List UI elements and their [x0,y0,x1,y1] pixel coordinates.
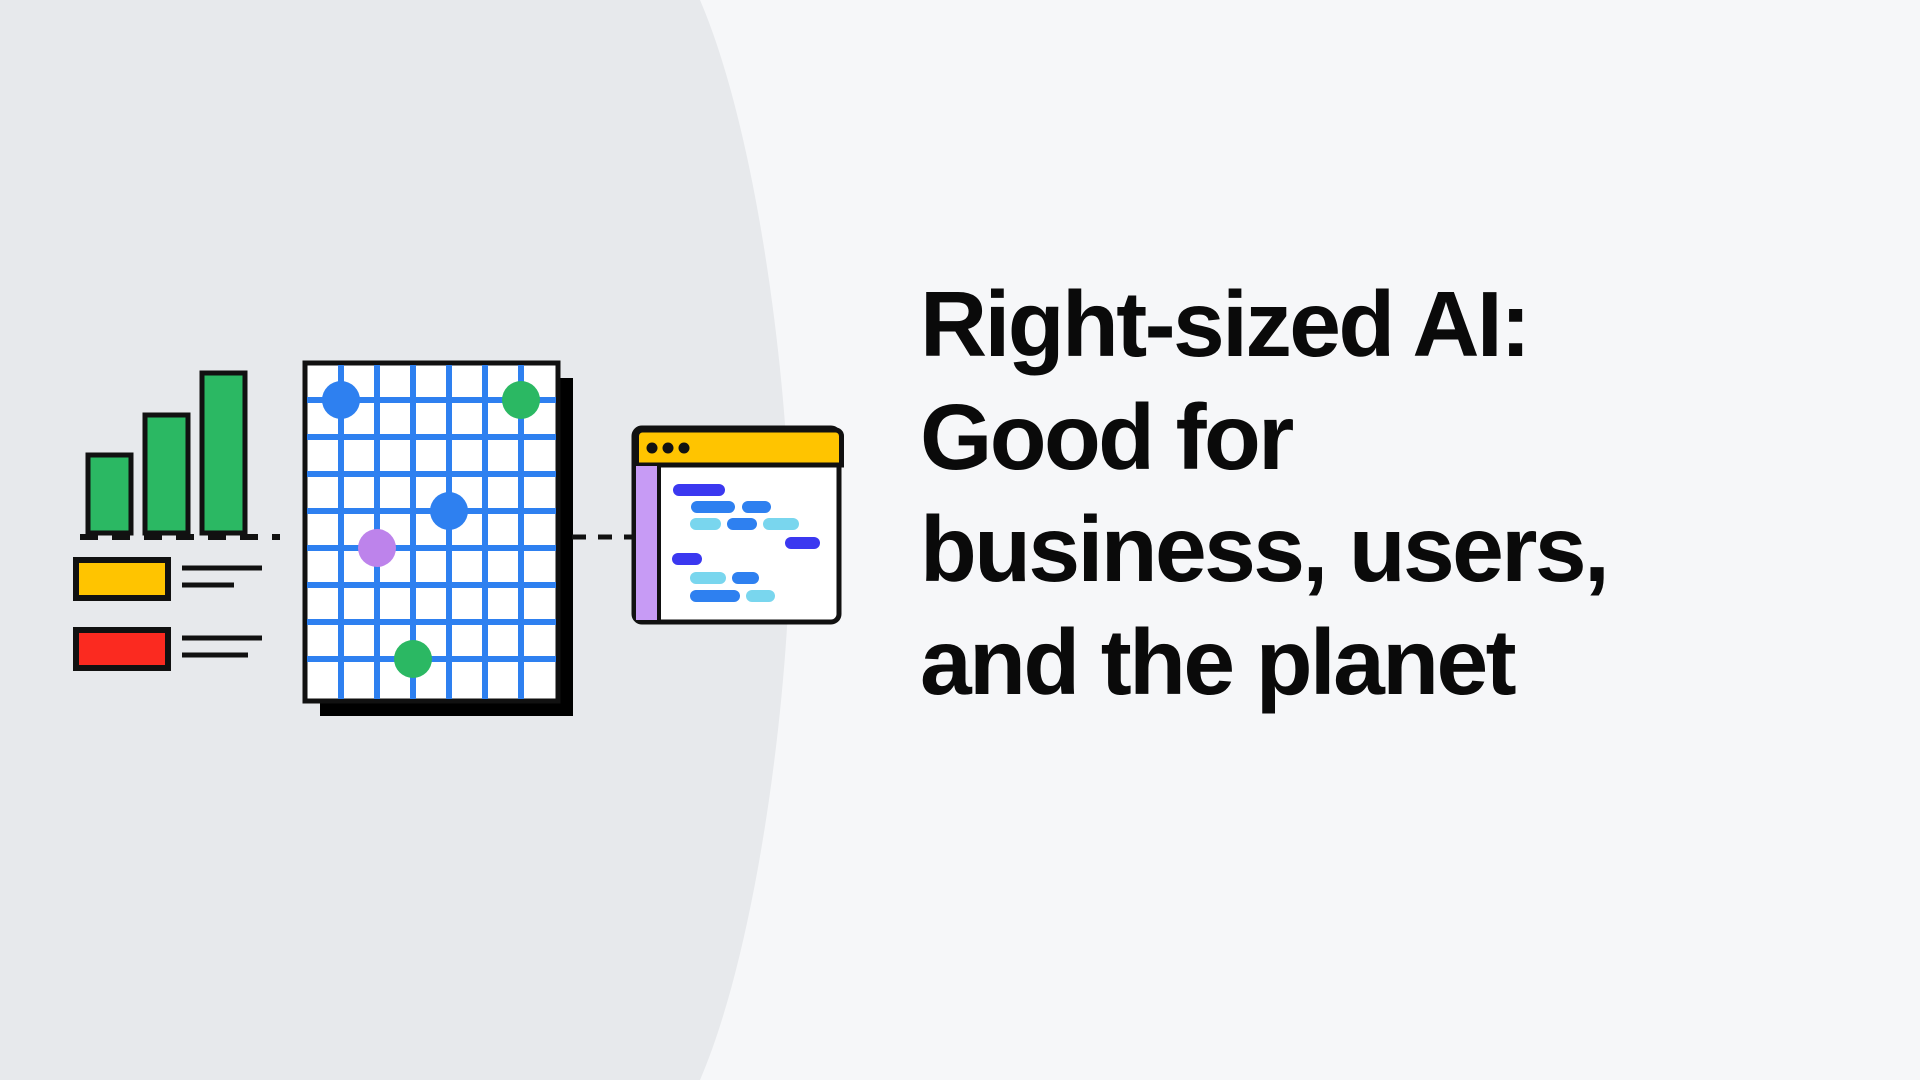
code-token [727,518,757,530]
window-dot-minimize-icon[interactable] [663,443,674,454]
window-sidebar[interactable] [636,466,658,620]
code-token [673,484,725,496]
code-token [785,537,820,549]
code-token [691,501,735,513]
code-token [690,572,726,584]
headline-line-3: business, users, [920,493,1800,606]
code-token [732,572,759,584]
headline-line-2: Good for [920,381,1800,494]
code-token [672,553,702,565]
legend-row-red [76,630,262,668]
window-dot-maximize-icon[interactable] [679,443,690,454]
legend-swatch-red [76,630,168,668]
code-token [742,501,771,513]
legend-row-yellow [76,560,262,598]
code-token [690,590,740,602]
point-purple-1 [358,529,396,567]
headline-line-1: Right-sized AI: [920,268,1800,381]
headline-block: Right-sized AI: Good for business, users… [920,268,1800,718]
illustration-group [0,0,900,1080]
point-green-2 [394,640,432,678]
code-token [763,518,799,530]
code-editor-window [634,428,842,622]
bar-1 [88,455,131,533]
bar-3 [202,373,245,533]
status-legend [76,560,262,668]
scatter-grid-card [305,363,573,716]
point-green-1 [502,381,540,419]
bar-2 [145,415,188,533]
legend-swatch-yellow [76,560,168,598]
point-blue-1 [322,381,360,419]
code-token [690,518,721,530]
window-dot-close-icon[interactable] [647,443,658,454]
code-token [746,590,775,602]
page-title: Right-sized AI: Good for business, users… [920,268,1800,718]
point-blue-2 [430,492,468,530]
page-root: Right-sized AI: Good for business, users… [0,0,1920,1080]
growth-bar-chart [88,373,245,533]
headline-line-4: and the planet [920,606,1800,719]
